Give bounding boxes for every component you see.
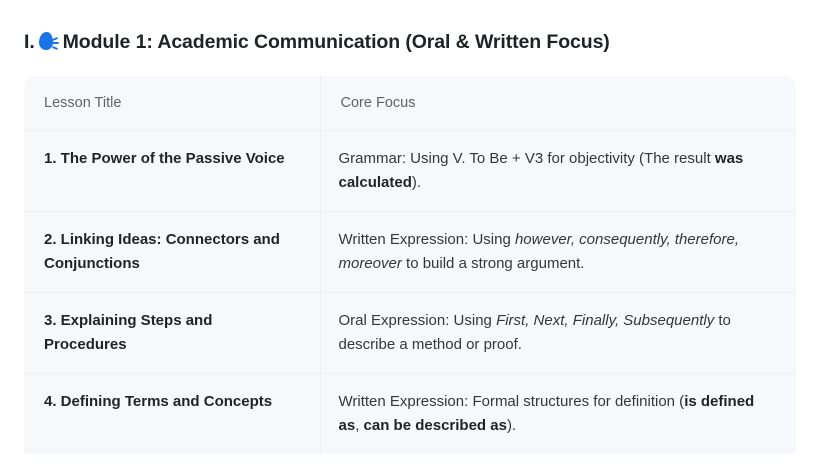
table-row: 1. The Power of the Passive Voice Gramma… [24,131,796,212]
table-row: 3. Explaining Steps and Procedures Oral … [24,293,796,374]
column-header-lesson-title: Lesson Title [24,76,320,131]
table-body: 1. The Power of the Passive Voice Gramma… [24,131,796,455]
table-header-row: Lesson Title Core Focus [24,76,796,131]
core-focus-text: Grammar: Using V. To Be + V3 for objecti… [321,131,797,211]
lesson-title-text: 1. The Power of the Passive Voice [24,131,320,187]
core-focus-cell: Oral Expression: Using First, Next, Fina… [320,293,796,374]
core-focus-text: Written Expression: Formal structures fo… [321,374,797,454]
table-row: 2. Linking Ideas: Connectors and Conjunc… [24,212,796,293]
column-header-lesson-title-label: Lesson Title [24,76,320,130]
lesson-table: Lesson Title Core Focus 1. The Power of … [24,76,796,454]
heading-label: Module 1: Academic Communication (Oral &… [63,31,610,53]
column-header-core-focus: Core Focus [320,76,796,131]
lesson-title-cell: 1. The Power of the Passive Voice [24,131,320,212]
table-header: Lesson Title Core Focus [24,76,796,131]
speaking-head-icon [39,32,60,51]
lesson-title-cell: 4. Defining Terms and Concepts [24,374,320,455]
document-page: I.Module 1: Academic Communication (Oral… [0,0,830,467]
heading-numeral: I. [24,31,35,53]
core-focus-cell: Written Expression: Using however, conse… [320,212,796,293]
core-focus-cell: Grammar: Using V. To Be + V3 for objecti… [320,131,796,212]
table-row: 4. Defining Terms and Concepts Written E… [24,374,796,455]
core-focus-cell: Written Expression: Formal structures fo… [320,374,796,455]
core-focus-text: Written Expression: Using however, conse… [321,212,797,292]
lesson-title-cell: 2. Linking Ideas: Connectors and Conjunc… [24,212,320,293]
lesson-title-text: 2. Linking Ideas: Connectors and Conjunc… [24,212,320,292]
column-header-core-focus-label: Core Focus [321,76,797,130]
page-title: I.Module 1: Academic Communication (Oral… [24,29,610,55]
core-focus-text: Oral Expression: Using First, Next, Fina… [321,293,797,373]
lesson-title-text: 4. Defining Terms and Concepts [24,374,320,430]
lesson-title-text: 3. Explaining Steps and Procedures [24,293,320,373]
lesson-title-cell: 3. Explaining Steps and Procedures [24,293,320,374]
lesson-table-container: Lesson Title Core Focus 1. The Power of … [24,76,796,454]
